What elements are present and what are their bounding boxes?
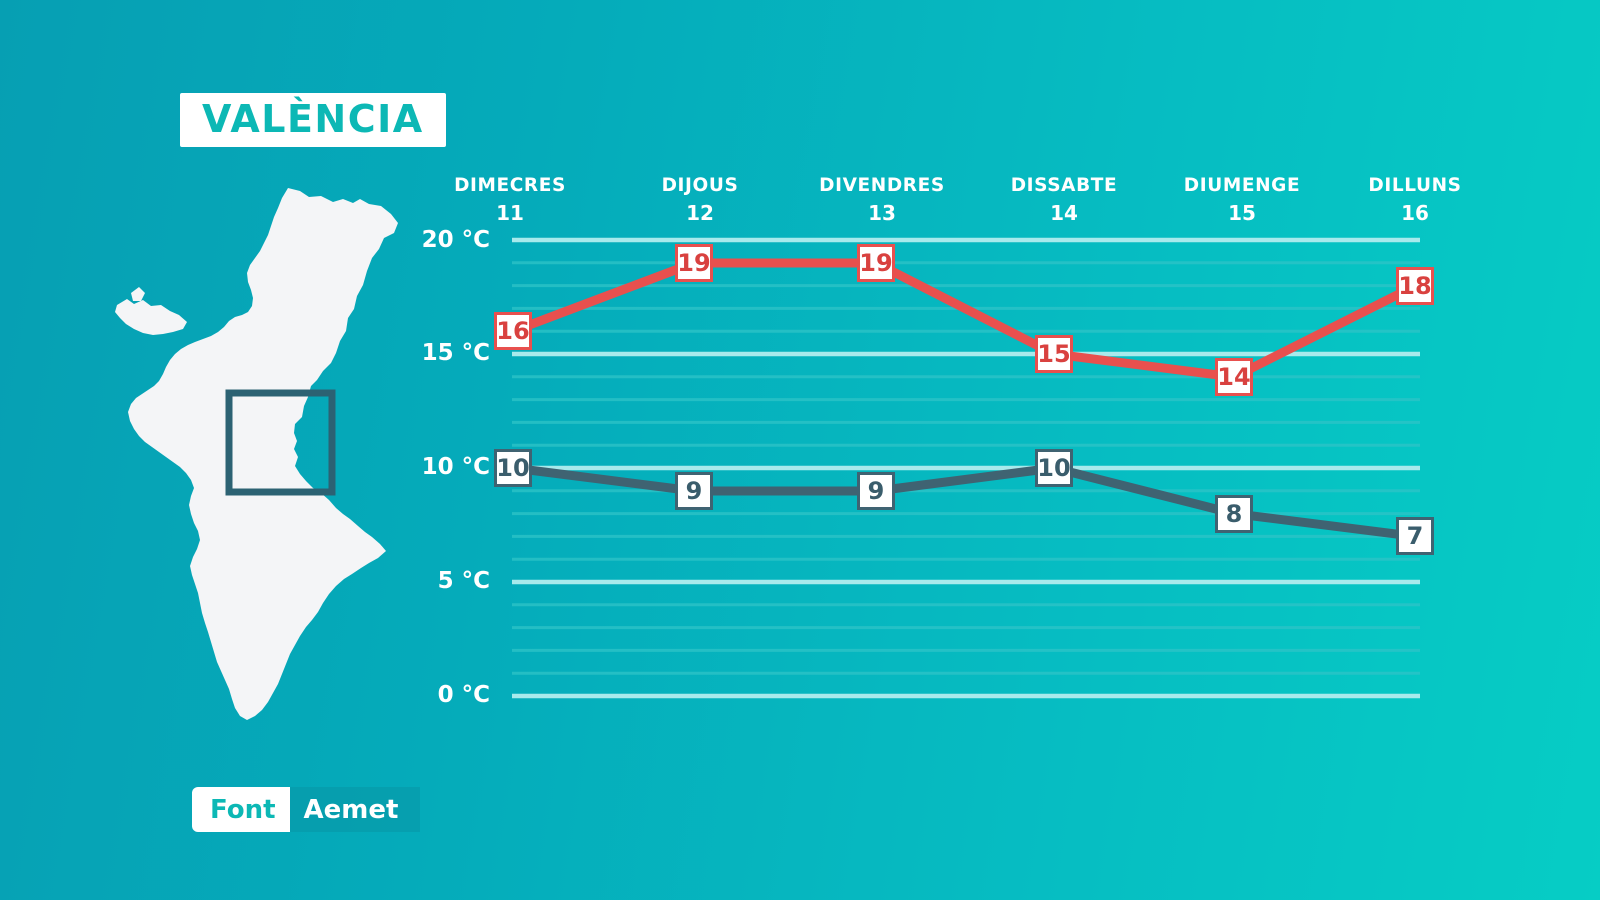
min-value-box: 10 [1035, 449, 1073, 487]
y-tick-5: 5 °C [410, 568, 490, 594]
source-label: Font [192, 787, 290, 832]
source-provider: Aemet [290, 787, 421, 832]
max-value-box: 15 [1035, 335, 1073, 373]
max-value-box: 19 [857, 244, 895, 282]
day-header-3: DISSABTE 14 [974, 177, 1154, 223]
max-value-box: 19 [675, 244, 713, 282]
day-header-2: DIVENDRES 13 [792, 177, 972, 223]
temperature-chart: DIMECRES 11 DIJOUS 12 DIVENDRES 13 DISSA… [420, 165, 1450, 725]
min-value-box: 9 [675, 472, 713, 510]
y-tick-10: 10 °C [410, 454, 490, 480]
day-header-5: DILLUNS 16 [1325, 177, 1505, 223]
map-svg [95, 175, 425, 745]
day-name: DIVENDRES [792, 177, 972, 196]
map-islands [115, 287, 187, 335]
min-value-box: 7 [1396, 517, 1434, 555]
day-header-4: DIUMENGE 15 [1152, 177, 1332, 223]
y-tick-0: 0 °C [410, 682, 490, 708]
min-temp-line [513, 468, 1415, 536]
min-value-box: 9 [857, 472, 895, 510]
day-number: 16 [1325, 203, 1505, 223]
day-number: 11 [420, 203, 600, 223]
weather-forecast-infographic: VALÈNCIA Font Aemet DIMECRES 11 DIJOU [0, 0, 1600, 900]
day-name: DILLUNS [1325, 177, 1505, 196]
map-landmass [128, 188, 398, 720]
source-attribution: Font Aemet [192, 787, 420, 832]
min-value-box: 8 [1215, 495, 1253, 533]
max-temp-line [513, 263, 1415, 377]
day-number: 14 [974, 203, 1154, 223]
day-name: DISSABTE [974, 177, 1154, 196]
day-number: 15 [1152, 203, 1332, 223]
day-header-1: DIJOUS 12 [610, 177, 790, 223]
region-map [95, 175, 425, 745]
day-number: 12 [610, 203, 790, 223]
day-name: DIMECRES [420, 177, 600, 196]
day-name: DIUMENGE [1152, 177, 1332, 196]
y-tick-20: 20 °C [410, 227, 490, 253]
min-value-box: 10 [494, 449, 532, 487]
day-name: DIJOUS [610, 177, 790, 196]
max-value-box: 16 [494, 312, 532, 350]
y-tick-15: 15 °C [410, 340, 490, 366]
day-number: 13 [792, 203, 972, 223]
plot-area [420, 165, 1450, 725]
page-title: VALÈNCIA [202, 100, 424, 138]
max-value-box: 18 [1396, 267, 1434, 305]
day-header-0: DIMECRES 11 [420, 177, 600, 223]
region-title-chip: VALÈNCIA [180, 93, 446, 147]
max-value-box: 14 [1215, 358, 1253, 396]
